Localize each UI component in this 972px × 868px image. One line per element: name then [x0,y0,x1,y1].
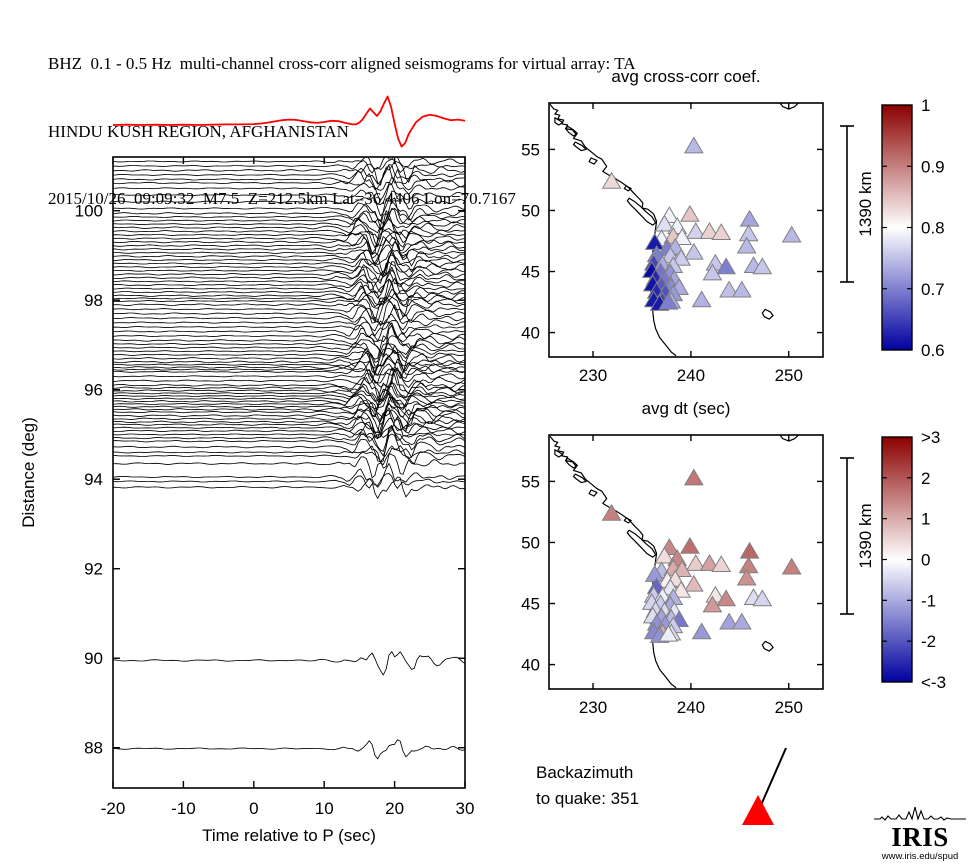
backazimuth-label: Backazimuth [536,760,639,786]
map-cc-x-tick-label: 240 [677,366,705,385]
map-cc-x-tick-label: 250 [775,366,803,385]
seismogram-trace [113,448,465,468]
seismogram-trace [113,350,465,374]
map-cc-x-tick-label: 230 [579,366,607,385]
x-tick-label: -10 [171,799,196,818]
map-cc-plot-area [549,103,823,357]
map-dt-scalebar [840,458,854,614]
y-tick-label: 100 [75,202,103,221]
y-tick-label: 96 [84,381,103,400]
x-tick-label: 20 [385,799,404,818]
map-cc-colorbar-tick-label: 0.9 [921,157,945,176]
map-cc-colorbar-tick-label: 0.7 [921,280,945,299]
map-dt-y-tick-label: 45 [521,595,540,614]
seismogram-trace [113,271,465,298]
map-dt-colorbar-tick-label: -2 [921,632,936,651]
map-cc-colorbar-tick-label: 0.6 [921,341,945,360]
backazimuth-arrow [696,740,856,820]
map-dt-x-tick-label: 230 [579,698,607,717]
map-dt-x-tick-label: 250 [775,698,803,717]
backazimuth-block: Backazimuth to quake: 351 [536,760,836,840]
seismogram-trace [113,740,465,759]
map-cc-scalebar [840,126,854,282]
record-section-axes-box [113,157,465,788]
seismogram-trace [113,474,465,489]
iris-logo-graphic: IRIS www.iris.edu/spud [872,806,968,864]
map-cc-y-tick-label: 55 [521,140,540,159]
map-cc-colorbar-tick-label: 0.8 [921,219,945,238]
x-tick-label: 30 [456,799,475,818]
map-cc-colorbar-tick-label: 1 [921,96,930,115]
seismogram-trace [113,477,465,498]
map-dt-colorbar-tick-label: 2 [921,469,930,488]
seismogram-trace [113,237,465,259]
x-tick-label: 0 [249,799,258,818]
x-tick-label: -20 [101,799,126,818]
iris-logo-url: www.iris.edu/spud [881,851,959,862]
y-tick-label: 94 [84,470,103,489]
y-tick-label: 92 [84,560,103,579]
map-dt-colorbar-tick-label: >3 [921,428,940,447]
backazimuth-value: to quake: 351 [536,786,639,812]
seismogram-traces [113,155,465,759]
y-tick-label: 98 [84,291,103,310]
map-dt-colorbar-tick-label: 0 [921,551,930,570]
seismogram-trace [113,652,465,675]
seismogram-trace [113,454,465,478]
map-dt-y-tick-label: 55 [521,472,540,491]
iris-logo[interactable]: IRIS www.iris.edu/spud [872,806,968,864]
map-dt-title: avg dt (sec) [642,399,731,418]
map-dt-colorbar-tick-label: -1 [921,591,936,610]
y-axis-label: Distance (deg) [19,417,38,528]
x-tick-label: 10 [315,799,334,818]
map-cc-title: avg cross-corr coef. [611,67,760,86]
map-dt-scalebar-label: 1390 km [856,503,875,568]
reference-stack-trace [113,97,465,147]
map-dt-y-tick-label: 40 [521,656,540,675]
record-section-panel: -20-100102030Time relative to P (sec)889… [0,78,500,868]
map-dt-x-tick-label: 240 [677,698,705,717]
map-cc-y-tick-label: 40 [521,324,540,343]
seismogram-trace [113,161,465,185]
x-axis-label: Time relative to P (sec) [202,826,376,845]
map-dt-colorbar-tick-label: <-3 [921,673,946,692]
y-tick-label: 88 [84,739,103,758]
map-avg-dt-panel: avg dt (sec)230240250404550551390 km<-3-… [500,392,972,737]
map-dt-colorbar-tick-label: 1 [921,510,930,529]
map-dt-plot-area [549,435,823,689]
y-tick-label: 90 [84,649,103,668]
map-dt-y-tick-label: 50 [521,533,540,552]
record-section-plot[interactable]: -20-100102030Time relative to P (sec)889… [0,78,500,868]
map-cross-corr-panel: avg cross-corr coef.23024025040455055139… [500,60,972,405]
seismogram-trace [113,322,465,341]
map-cross-corr-plot[interactable]: avg cross-corr coef.23024025040455055139… [500,60,972,405]
map-cc-scalebar-label: 1390 km [856,171,875,236]
iris-logo-text: IRIS [891,822,949,852]
map-avg-dt-plot[interactable]: avg dt (sec)230240250404550551390 km<-3-… [500,392,972,737]
map-cc-y-tick-label: 45 [521,263,540,282]
map-cc-y-tick-label: 50 [521,201,540,220]
seismogram-trace [113,314,465,331]
